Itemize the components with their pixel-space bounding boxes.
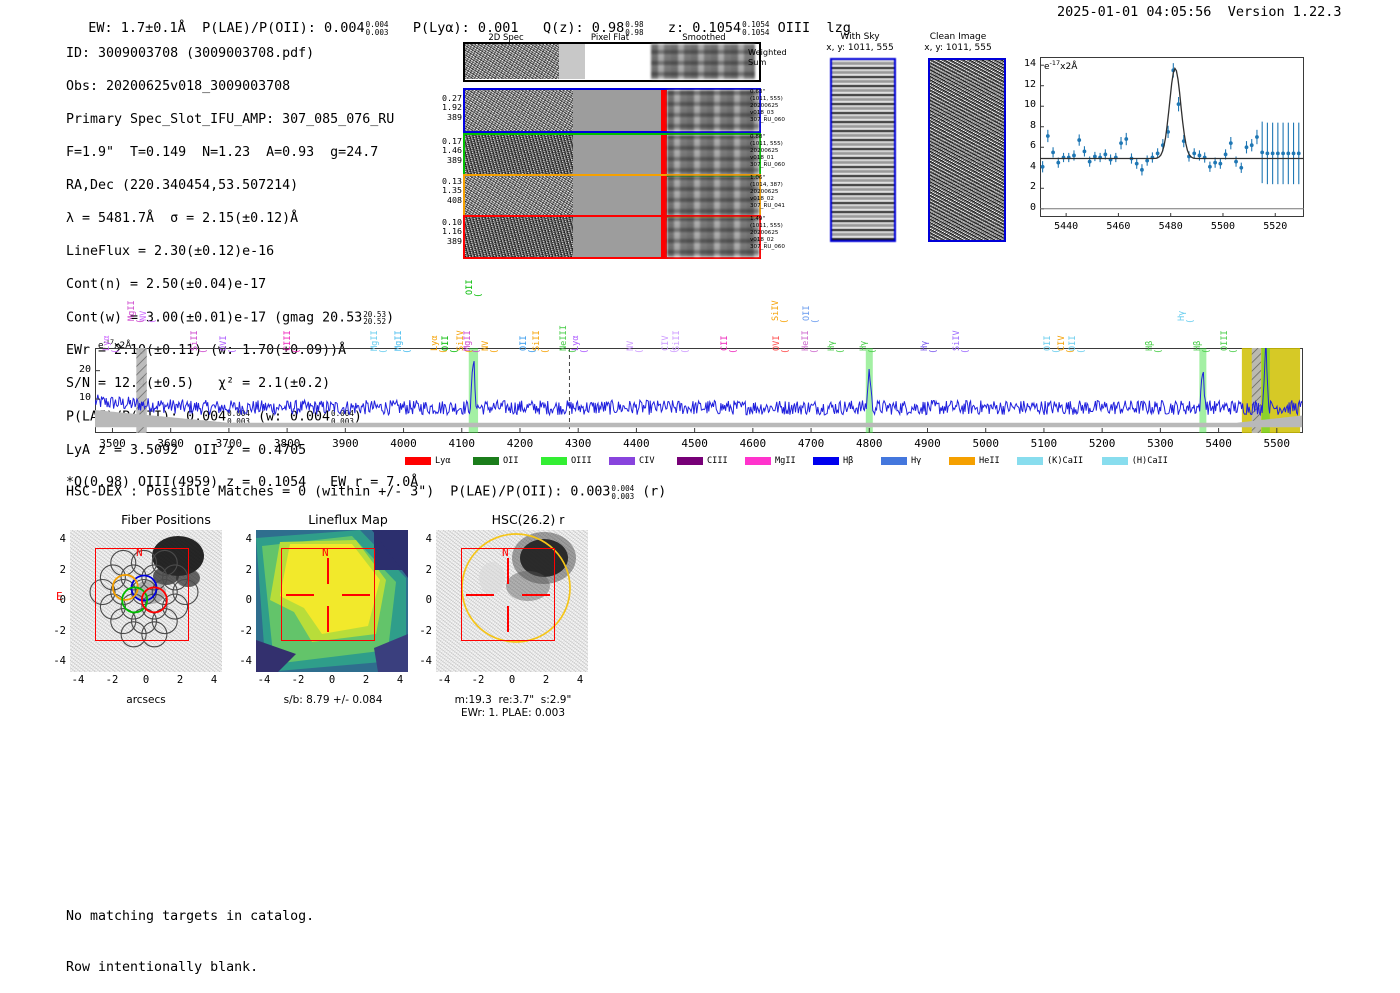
- legend-swatch: [1102, 457, 1128, 465]
- weighted-sum-label: Weighted Sum: [748, 47, 787, 67]
- legend-swatch: [881, 457, 907, 465]
- legend-label: OII: [503, 456, 519, 466]
- hscdex-summary: HSC-DEX : Possible Matches = 0 (within +…: [66, 484, 666, 500]
- hsc-r-panel: N E: [436, 530, 588, 672]
- fiber-row-4: [463, 215, 761, 259]
- emission-line-bracket: (: [292, 349, 302, 354]
- emission-line-bracket: (: [729, 349, 739, 354]
- emission-line-bracket: (: [681, 349, 691, 354]
- emission-line-bracket: (: [199, 349, 209, 354]
- fiber-xlabel: arcsecs: [70, 694, 222, 707]
- info-seeing-params: F=1.9" T=0.149 N=1.23 A=0.93 g=24.7: [66, 145, 418, 161]
- fiber-row-2-values: 0.17 1.46 389: [432, 137, 462, 165]
- legend-swatch: [541, 457, 567, 465]
- emission-line-bracket: (: [1186, 319, 1196, 324]
- emission-line-bracket: (: [490, 349, 500, 354]
- info-continuum-narrow: Cont(n) = 2.50(±0.04)e-17: [66, 277, 418, 293]
- lineflux-crosshair-bottom: [327, 606, 329, 632]
- lineflux-crosshair-top: [327, 558, 329, 584]
- info-wavelength-sigma: λ = 5481.7Å σ = 2.15(±0.12)Å: [66, 211, 418, 227]
- legend-swatch: [949, 457, 975, 465]
- info-lineflux: LineFlux = 2.30(±0.12)e-16: [66, 244, 418, 260]
- fit-yaxis-unit: e-17x2Å: [1044, 59, 1077, 72]
- emission-line-bracket: (: [450, 349, 460, 354]
- footer-note: No matching targets in catalog. Row inte…: [66, 874, 314, 993]
- fiber-row-3-meta: 1.06" (1014, 387) 20200625 v018_02 307_R…: [750, 175, 785, 210]
- footer-line-2: Row intentionally blank.: [66, 959, 314, 976]
- emission-line-bracket: (: [868, 349, 878, 354]
- legend-swatch: [405, 457, 431, 465]
- hsc-crosshair-top: [507, 558, 509, 584]
- emission-line-bracket: (: [541, 349, 551, 354]
- full-spectrum-svg: [95, 348, 1303, 433]
- fiber-row-3-values: 0.13 1.35 408: [432, 177, 462, 205]
- fiber-row-1-values: 0.27 1.92 389: [432, 94, 462, 122]
- weighted-sum-2dspec: [465, 44, 559, 79]
- timestamp: 2025-01-01 04:05:56: [1057, 4, 1211, 20]
- panel-title-lineflux-map: Lineflux Map: [248, 512, 448, 527]
- hsc-crosshair-bottom: [507, 606, 509, 632]
- header-line-id: OIII: [778, 20, 811, 36]
- footer-line-1: No matching targets in catalog.: [66, 908, 314, 925]
- fiber-row-4-values: 0.10 1.16 389: [432, 218, 462, 246]
- emission-line-bracket: (: [811, 319, 821, 324]
- legend-label: Hβ: [843, 456, 853, 466]
- legend-label: HeII: [979, 456, 1000, 466]
- emission-line-bracket: (: [1229, 349, 1239, 354]
- version-label: Version 1.22.3: [1228, 4, 1342, 20]
- emission-line-bracket: (: [635, 349, 645, 354]
- legend-label: OIII: [571, 456, 592, 466]
- legend-label: Lyα: [435, 456, 451, 466]
- hscdex-plae-range: 0.0040.003: [611, 485, 634, 500]
- fiber-row-3: [463, 174, 761, 218]
- cutout-with-sky-caption: With Sky x, y: 1011, 555: [812, 32, 908, 54]
- emission-line-bracket: (: [780, 319, 790, 324]
- info-primary-spec: Primary Spec_Slot_IFU_AMP: 307_085_076_R…: [66, 112, 418, 128]
- line-fit-svg: [1040, 57, 1304, 217]
- hsc-crosshair-right: [522, 594, 550, 596]
- info-obs: Obs: 20200625v018_3009003708: [66, 79, 418, 95]
- legend-label: MgII: [775, 456, 796, 466]
- lineflux-crosshair-left: [286, 594, 314, 596]
- fiber-row-2-meta: 0.88" (1011, 555) 20200625 v018_01 307_R…: [750, 134, 785, 169]
- legend-label: (H)CaII: [1132, 456, 1168, 466]
- header-z-range: 0.10540.1054: [742, 21, 769, 36]
- weighted-sum-smoothed: [651, 44, 755, 79]
- hsc-caption: m:19.3 re:3.7" s:2.9" EWr: 1. PLAE: 0.00…: [428, 694, 598, 720]
- legend-label: (K)CaII: [1047, 456, 1083, 466]
- legend-swatch: [473, 457, 499, 465]
- emission-line-bracket: (: [929, 349, 939, 354]
- panel-title-hsc-r: HSC(26.2) r: [428, 512, 628, 527]
- emission-line-bracket: (: [836, 349, 846, 354]
- line-fit-plot: e-17x2Å 02468101214 54405460548055005520: [1040, 57, 1304, 217]
- legend-swatch: [1017, 457, 1043, 465]
- lineflux-crosshair-right: [342, 594, 370, 596]
- weighted-sum-gap: [559, 44, 585, 79]
- emission-line-bracket: (: [580, 349, 590, 354]
- legend-label: CIV: [639, 456, 655, 466]
- emission-line-bracket: (: [1154, 349, 1164, 354]
- legend-swatch: [745, 457, 771, 465]
- info-id: ID: 3009003708 (3009003708.pdf): [66, 46, 418, 62]
- info-continuum-wide: Cont(w) = 3.00(±0.01)e-17 (gmag 20.5320.…: [66, 310, 418, 327]
- emission-line-bracket: (: [781, 349, 791, 354]
- fiber-row-4-meta: 1.49" (1011, 555) 20200625 v018_02 307_R…: [750, 216, 785, 251]
- lineflux-north-label: N: [322, 546, 329, 559]
- emission-line-bracket: (: [1077, 349, 1087, 354]
- emission-line-bracket: (: [111, 349, 121, 354]
- legend-swatch: [609, 457, 635, 465]
- emission-line-bracket: (: [148, 319, 158, 324]
- panel-title-fiber-positions: Fiber Positions: [66, 512, 266, 527]
- emission-line-bracket: (: [961, 349, 971, 354]
- emission-line-bracket: (: [403, 349, 413, 354]
- fiber-north-label: N: [136, 546, 143, 559]
- cutout-clean-image: [928, 58, 1006, 242]
- hsc-crosshair-left: [466, 594, 494, 596]
- lineflux-caption: s/b: 8.79 +/- 0.084: [248, 694, 418, 707]
- hsc-north-label: N: [502, 546, 509, 559]
- emission-line-label: NeIII: [559, 325, 569, 351]
- legend-swatch: [813, 457, 839, 465]
- gmag-range: 20.5320.52: [363, 311, 386, 326]
- legend-label: CIII: [707, 456, 728, 466]
- header-timestamp-version: 2025-01-01 04:05:56 Version 1.22.3: [1057, 4, 1342, 20]
- cutout-clean-caption: Clean Image x, y: 1011, 555: [908, 32, 1008, 54]
- weighted-sum-flat: [585, 44, 651, 79]
- emission-line-bracket: (: [1202, 349, 1212, 354]
- fiber-row-2: [463, 133, 761, 177]
- legend-label: Hγ: [911, 456, 921, 466]
- lineflux-map-panel: N E: [256, 530, 408, 672]
- info-radec: RA,Dec (220.340454,53.507214): [66, 178, 418, 194]
- full-spectrum-plot: e-17x2Å 1020: [95, 348, 1303, 433]
- fiber-row-1: [463, 88, 761, 133]
- weighted-sum-row: [463, 42, 761, 82]
- cutout-with-sky-image: [830, 58, 896, 242]
- fiber-positions-panel: N E: [70, 530, 222, 672]
- emission-line-bracket: (: [379, 349, 389, 354]
- emission-line-bracket: (: [810, 349, 820, 354]
- emission-line-bracket: (: [474, 293, 484, 298]
- fiber-ifu-box: [95, 548, 189, 641]
- fiber-row-1-meta: 0.63" (1011, 555) 20200625 v018_03 307_R…: [750, 89, 785, 124]
- legend-swatch: [677, 457, 703, 465]
- emission-line-bracket: (: [228, 349, 238, 354]
